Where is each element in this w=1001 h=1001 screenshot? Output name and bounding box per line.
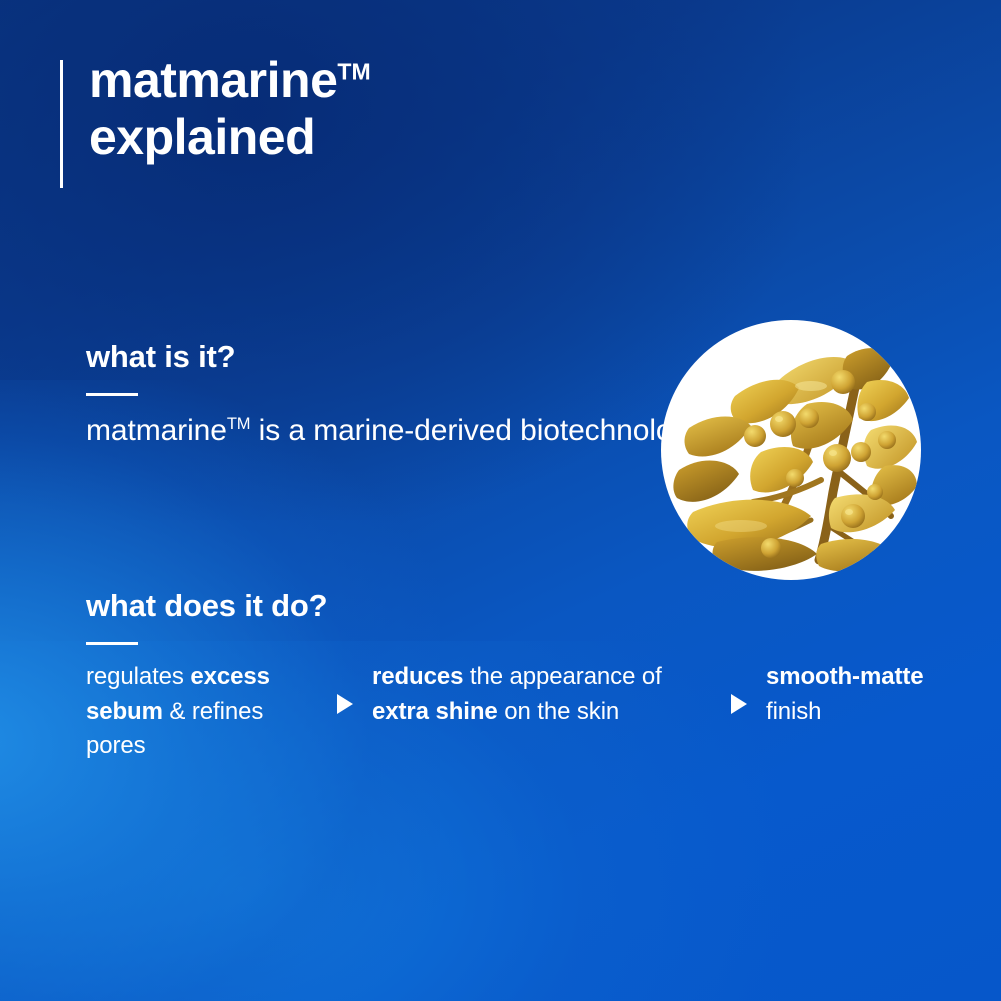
benefit-item-1: regulates excess sebum & refines pores	[86, 660, 318, 764]
trademark-symbol: TM	[337, 58, 370, 84]
benefit-item-3: smooth-matte finish	[766, 660, 981, 729]
benefit-text: regulates	[86, 663, 190, 690]
section-what-does-it-do: what does it do? regulates excess sebum …	[86, 589, 981, 764]
title-line-1: matmarine	[89, 52, 337, 108]
seaweed-illustration	[661, 320, 921, 580]
arrow-right-icon	[731, 694, 747, 714]
benefit-list: regulates excess sebum & refines pores r…	[86, 660, 981, 764]
ingredient-image-circle	[661, 320, 921, 580]
benefit-separator-2	[712, 660, 766, 714]
benefit-separator-1	[318, 660, 372, 714]
trademark-symbol: TM	[227, 415, 251, 433]
page-title: matmarineTM explained	[60, 52, 371, 188]
benefit-emphasis: reduces	[372, 663, 463, 690]
body-ingredient-name: matmarine	[86, 414, 227, 447]
arrow-right-icon	[337, 694, 353, 714]
title-text: matmarineTM explained	[89, 52, 371, 166]
matmarine-explainer-card: matmarineTM explained what is it? matmar…	[0, 0, 1001, 1001]
title-line-2: explained	[89, 109, 315, 165]
benefit-text: finish	[766, 698, 821, 725]
title-accent-rule	[60, 60, 63, 188]
section-divider	[86, 393, 138, 396]
benefit-text: on the skin	[498, 698, 620, 725]
benefit-text: the appearance of	[463, 663, 661, 690]
section-divider	[86, 642, 138, 645]
section-heading-what-does-it-do: what does it do?	[86, 589, 981, 623]
benefit-emphasis: smooth-matte	[766, 663, 923, 690]
benefit-emphasis: extra shine	[372, 698, 498, 725]
benefit-item-2: reduces the appearance of extra shine on…	[372, 660, 712, 729]
